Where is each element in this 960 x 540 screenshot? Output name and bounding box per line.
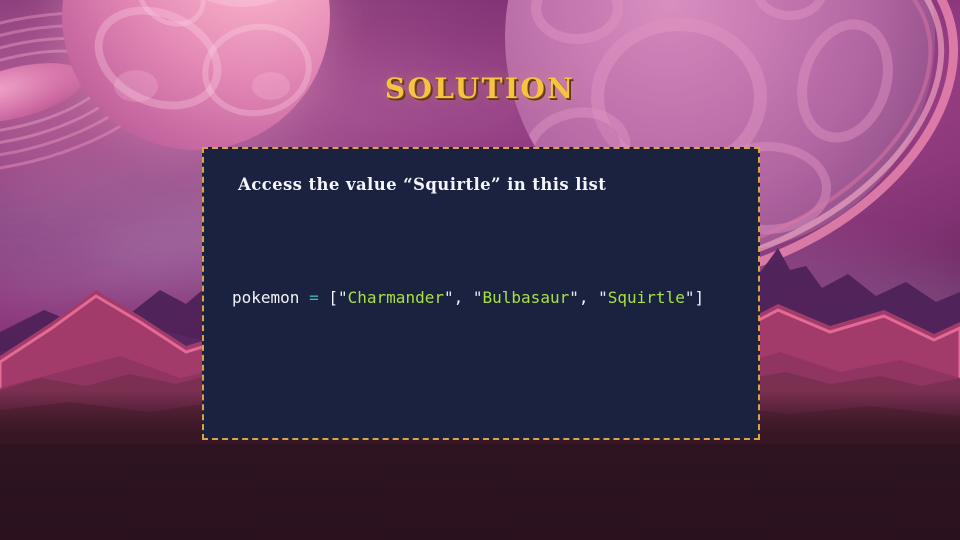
code-token-open-bracket: [ bbox=[328, 288, 338, 307]
panel-prompt-text: Access the value “Squirtle” in this list bbox=[238, 175, 758, 194]
code-line-blank bbox=[232, 378, 758, 406]
code-token-space bbox=[319, 288, 329, 307]
code-token-close-bracket: ] bbox=[694, 288, 704, 307]
code-token-comma: , bbox=[454, 288, 473, 307]
code-token-quote: " bbox=[598, 288, 608, 307]
code-token-string-3: Squirtle bbox=[608, 288, 685, 307]
ground-flat bbox=[0, 444, 960, 540]
code-token-variable: pokemon bbox=[232, 288, 299, 307]
slide-stage: SOLUTION Access the value “Squirtle” in … bbox=[0, 0, 960, 540]
code-block: pokemon = ["Charmander", "Bulbasaur", "S… bbox=[232, 216, 758, 440]
code-token-string-1: Charmander bbox=[348, 288, 444, 307]
code-token-quote: " bbox=[444, 288, 454, 307]
code-panel: Access the value “Squirtle” in this list… bbox=[202, 147, 760, 440]
code-token-comma: , bbox=[579, 288, 598, 307]
code-token-assign: = bbox=[309, 288, 319, 307]
code-token-quote: " bbox=[338, 288, 348, 307]
page-title: SOLUTION bbox=[0, 72, 960, 105]
code-token-string-2: Bulbasaur bbox=[483, 288, 570, 307]
code-token-quote: " bbox=[569, 288, 579, 307]
code-token-space bbox=[299, 288, 309, 307]
code-token-quote: " bbox=[473, 288, 483, 307]
code-line-1: pokemon = ["Charmander", "Bulbasaur", "S… bbox=[232, 286, 758, 309]
